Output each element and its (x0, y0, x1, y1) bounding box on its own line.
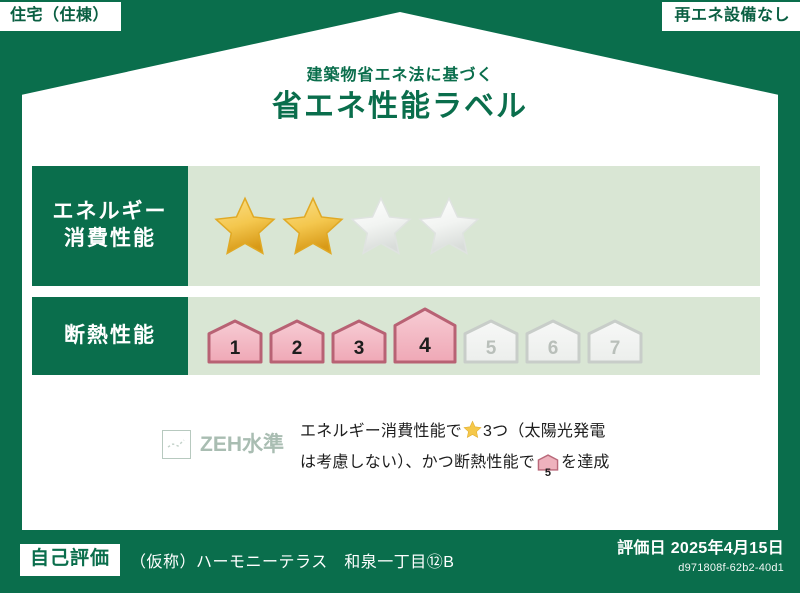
self-evaluation-badge: 自己評価 (20, 544, 120, 576)
zeh-checkbox-icon (162, 430, 191, 459)
insulation-level-1: 1 (206, 319, 264, 365)
label-footer: 自己評価 （仮称）ハーモニーテラス 和泉一丁目⑫B 評価日 2025年4月15日… (0, 530, 800, 593)
zeh-note-line2-part2: を達成 (561, 454, 610, 471)
star-empty-icon (418, 195, 480, 257)
zeh-note-line1-part2: 3つ（太陽光発電 (483, 423, 606, 440)
insulation-label-line1: 断熱性能 (64, 323, 156, 350)
zeh-note-line1-part1: エネルギー消費性能で (300, 423, 462, 440)
star-empty-icon (350, 195, 412, 257)
insulation-level-2: 2 (268, 319, 326, 365)
energy-performance-label: エネルギー 消費性能 (32, 166, 188, 286)
star-rating (188, 166, 760, 286)
zeh-standard-label: ZEH水準 (200, 434, 284, 455)
building-type-tag: 住宅（住棟） (0, 2, 121, 31)
insulation-performance-label: 断熱性能 (32, 297, 188, 375)
zeh-standard-indicator: ZEH水準 (32, 418, 300, 459)
energy-label-line2: 消費性能 (64, 226, 156, 253)
inline-star-icon (463, 426, 482, 443)
insulation-level-3: 3 (330, 319, 388, 365)
evaluation-id: d971808f-62b2-40d1 (617, 562, 784, 574)
inline-house-level: 5 (537, 468, 559, 479)
insulation-level-7: 7 (586, 319, 644, 365)
energy-label-card: 住宅（住棟） 再エネ設備なし 建築物省エネ法に基づく 省エネ性能ラベル エネルギ… (0, 0, 800, 593)
zeh-note-line2-part1: は考慮しない）、かつ断熱性能で (300, 454, 535, 471)
insulation-performance-row: 断熱性能 1234567 (32, 297, 760, 375)
insulation-level-scale: 1234567 (206, 307, 644, 365)
zeh-criteria-text: エネルギー消費性能で3つ（太陽光発電 は考慮しない）、かつ断熱性能で5を達成 (300, 418, 760, 481)
insulation-level-5: 5 (462, 319, 520, 365)
star-filled-icon (282, 195, 344, 257)
evaluation-date: 評価日 2025年4月15日 (617, 539, 784, 560)
energy-label-line1: エネルギー (53, 199, 168, 226)
title-subtitle: 建築物省エネ法に基づく (0, 66, 800, 85)
zeh-note-block: ZEH水準 エネルギー消費性能で3つ（太陽光発電 は考慮しない）、かつ断熱性能で… (32, 418, 760, 481)
insulation-level-4: 4 (392, 307, 458, 365)
page-title: 省エネ性能ラベル (0, 89, 800, 125)
property-name: （仮称）ハーモニーテラス 和泉一丁目⑫B (130, 548, 454, 572)
inline-house-icon: 5 (537, 453, 559, 481)
renewable-energy-tag: 再エネ設備なし (662, 2, 800, 31)
star-filled-icon (214, 195, 276, 257)
insulation-level-6: 6 (524, 319, 582, 365)
energy-performance-row: エネルギー 消費性能 (32, 166, 760, 286)
label-title-block: 建築物省エネ法に基づく 省エネ性能ラベル (0, 66, 800, 125)
